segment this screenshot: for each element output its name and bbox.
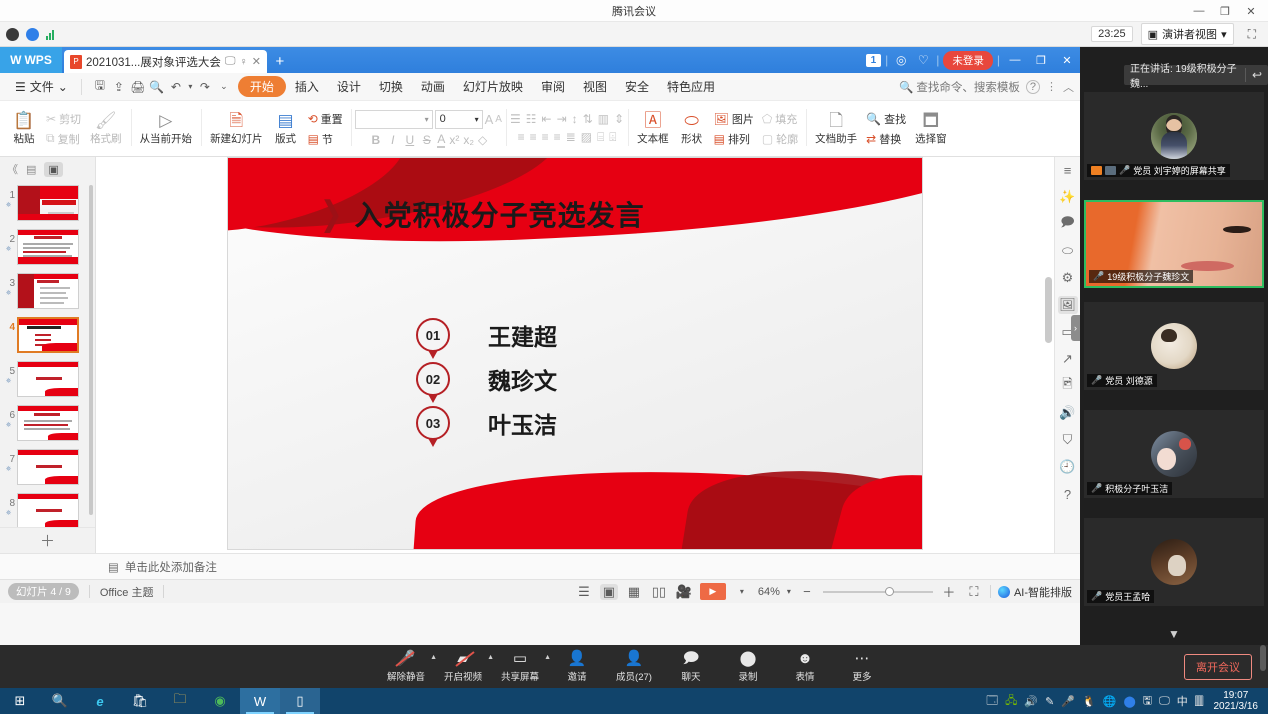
find-label: 查找 [884,111,906,127]
thumbnail-number: 6 [2,405,15,421]
zoom-in-button[interactable]: ＋ [940,582,958,601]
notes-pane[interactable]: ▤ 单击此处添加备注 [0,553,1080,579]
font-color-button[interactable]: A [437,132,445,148]
slash-overlay [394,650,416,668]
thumbnail-number: 4 [2,317,15,333]
nvidia-icon[interactable]: 🖧 [1005,692,1017,711]
speaking-label: 正在讲话: 19级积极分子魏... [1130,60,1239,90]
undo-icon[interactable]: ↶ [168,80,184,94]
undo-caret-icon[interactable]: ▾ [187,82,194,91]
volume-icon[interactable]: 🔊 [1024,695,1038,708]
hamburger-icon: ☰ [15,80,26,94]
invite-button[interactable]: 👤 邀请 [557,651,597,683]
ribbon-group-font: ▾ 0 ▾ A A B I U S A x² x₂ [351,103,506,154]
decrease-indent-icon[interactable]: ⇤ [542,112,552,126]
outline-icon: ▢ [762,132,773,146]
meeting-minimize-button[interactable]: — [1186,0,1212,22]
presenter-view-button[interactable]: ▣ 演讲者视图 ▾ [1141,23,1234,45]
tray-icons: 🗔 🖧 🔊 ✎ 🎤 🐧 🌐 ⬤ 🖫 🖵 中 🀫 [986,692,1203,711]
wps-logo-text: WPS [24,53,51,67]
text-align-vertical-icon[interactable]: ⇕ [614,112,624,126]
format-painter-label: 格式刷 [90,131,122,146]
bold-button[interactable]: B [369,133,382,147]
cloud-save-icon[interactable]: ⇪ [111,80,127,94]
slide-canvas[interactable]: ❯ 入党积极分子竞选发言 01 王建超 [227,157,923,550]
safebox-icon[interactable]: ⛉ [1058,431,1078,449]
thumbnail-number: 7 [2,449,15,465]
font-size-select[interactable]: 0 ▾ [435,110,483,129]
ribbon-tab-featured-apps[interactable]: 特色应用 [658,75,724,98]
name-item[interactable]: 01 王建超 [416,313,557,357]
name-text: 叶玉洁 [488,406,557,440]
start-video-label: 开启视频 [444,669,482,683]
thumbnail-item-6[interactable]: 6✵ [0,403,95,447]
statusbar-right: ☰ ▣ ▦ ▯▯ 🎥 ▶ ▾ 64% ▾ − ＋ ⛶ AI-智能排版 [575,582,1072,601]
columns-icon[interactable]: ▥ [598,112,609,126]
shape-icon[interactable]: ⬭ [1058,242,1078,260]
slide-title-block[interactable]: ❯ 入党积极分子竞选发言 [320,194,645,234]
panel-scrollbar[interactable] [1260,645,1266,671]
new-slide-icon: 🗎 [229,112,243,130]
search-icon[interactable]: 🔍 [40,688,80,714]
more-label: 更多 [852,669,871,683]
file-explorer-icon[interactable]: 🗀 [160,688,200,714]
wps-menu-row: ☰ 文件 ⌄ 🖫 ⇪ 🖨 🔍 ↶ ▾ ↷ ⌄ 开始 插入 设计 切换 动画 幻灯… [0,73,1080,101]
chevron-right-icon: ❯ [320,197,343,231]
paragraph-row-1: ☰ ☷ ⇤ ⇥ ↕ ⇅ ▥ ⇕ [510,112,624,126]
cut-button[interactable]: ✂ 剪切 [43,110,84,128]
find-button[interactable]: 🔍 查找 [863,110,909,128]
justify-icon[interactable]: ≡ [554,130,561,145]
image-library-icon[interactable]: 🖼 [1058,296,1078,314]
collapse-pane-icon[interactable]: 《 [7,161,18,177]
thumbnail-number: 2 [2,229,15,245]
wps-close-button[interactable]: ✕ [1056,54,1078,67]
zoom-out-button[interactable]: − [798,584,816,599]
pin-number: 03 [416,406,450,440]
record-icon: ⬤ [740,651,757,667]
effects-icon[interactable]: ✨ [1058,188,1078,206]
ribbon-group-slideshow: ▷ 从当前开始 [131,103,202,154]
name-item[interactable]: 03 叶玉洁 [416,401,557,445]
pin-marker: 01 [416,318,450,352]
redo-icon[interactable]: ↷ [197,80,213,94]
share-icon[interactable]: ↗ [1058,350,1078,368]
arrange-label: 排列 [728,131,750,147]
section-label: 节 [322,131,333,147]
fill-button[interactable]: ⬠ 填充 [759,110,801,128]
wps-tabbar: W WPS P 2021031...展对象评选大会 🖵 ♀ ✕ + 1 | ◎ … [0,47,1080,73]
ribbon-tab-slideshow[interactable]: 幻灯片放映 [454,75,532,98]
strikethrough-button[interactable]: S [420,133,433,147]
wps-statusbar: 幻灯片 4 / 9 Office 主题 ☰ ▣ ▦ ▯▯ 🎥 ▶ ▾ 64% ▾… [0,579,1080,603]
members-button[interactable]: 👤 成员(27) [614,651,654,683]
zoom-slider[interactable] [823,591,933,593]
text-direction-icon[interactable]: ⇅ [583,112,593,126]
share-screen-button[interactable]: ▭ 共享屏幕 ▲ [500,651,540,683]
distribute-icon[interactable]: ≣ [566,130,576,145]
chrome-icon[interactable]: ◉ [200,688,240,714]
start-slideshow-button[interactable]: ▶ [700,583,726,600]
chevron-up-icon[interactable]: ▲ [430,654,437,661]
chat-label: 聊天 [681,669,700,683]
select-pane-label: 选择窗 [915,131,947,146]
wps-main-area: 《 ▤ ▣ 1✵ [0,157,1080,553]
thumbnail-preview [17,449,79,485]
share-badge-icon [1091,166,1102,175]
paste-label: 粘贴 [14,131,35,146]
participant-panel: 正在讲话: 19级积极分子魏... ↩ 🎤 党员 刘宇婷的屏幕共享 🎤 19级积… [1080,47,1268,645]
participant-name-strip: 🎤 党员王孟哈 [1087,590,1154,603]
arrange-button[interactable]: ▤ 排列 [711,130,757,148]
shape-label: 形状 [681,131,702,146]
new-slide-button[interactable]: 🗎 新建幻灯片 [206,110,267,148]
fit-to-window-button[interactable]: ⛶ [965,584,983,600]
ribbon-tab-security[interactable]: 安全 [616,75,658,98]
start-button[interactable]: ⊞ [0,688,40,714]
zoom-caret-icon[interactable]: ▾ [787,587,791,596]
chevron-up-icon[interactable]: ▲ [487,654,494,661]
italic-button[interactable]: I [386,133,399,147]
thumbnail-list[interactable]: 1✵ 2✵ [0,181,95,527]
thumbnail-preview [17,185,79,221]
outline-button[interactable]: ▢ 轮廓 [759,130,801,148]
paste-icon: 📋 [13,112,34,130]
avatar [1151,323,1197,369]
comment-icon[interactable]: 🗩 [1058,215,1078,233]
layout-button[interactable]: ▤ 版式 [269,110,303,148]
zoom-level-label[interactable]: 64% [758,586,780,598]
picture-button[interactable]: 🖼 图片 [711,110,757,128]
participant-name-strip: 🎤 党员 刘德源 [1087,374,1157,387]
mic-off-icon: 🎤 [397,651,416,667]
layout-icon: ▣ [1148,28,1158,41]
collapse-ribbon-icon[interactable]: ︿ [1063,79,1074,95]
thumbnail-number: 1 [2,185,15,201]
microphone-icon[interactable]: 🎤 [1061,695,1075,708]
slide-name-list[interactable]: 01 王建超 02 魏珍文 [416,313,557,445]
search-icon: 🔍 [899,80,913,94]
slide-canvas-area[interactable]: ❯ 入党积极分子竞选发言 01 王建超 [96,157,1054,553]
slash-overlay [454,650,476,668]
meeting-clock: 23:25 [1091,26,1133,42]
ime-keyboard-icon[interactable]: 🀫 [1195,695,1204,708]
ribbon-group-drawing: 🄰 文本框 ⬭ 形状 🖼 图片 ▤ 排列 [628,103,806,154]
bulb-icon[interactable]: ♀ [239,56,247,68]
video-tile-3[interactable]: 🎤 积极分子叶玉洁 [1084,410,1264,498]
reset-icon: ⟲ [308,112,318,126]
lock-icon[interactable] [26,28,39,41]
video-tile-4[interactable]: 🎤 党员王孟哈 [1084,518,1264,606]
start-from-current-button[interactable]: ▷ 从当前开始 [136,110,197,148]
reading-view-button[interactable]: ▯▯ [650,584,668,600]
ribbon-tab-animation[interactable]: 动画 [412,75,454,98]
thumbnail-item-5[interactable]: 5✵ [0,359,95,403]
leave-meeting-button[interactable]: 离开会议 [1184,654,1252,680]
participant-name-strip: 🎤 积极分子叶玉洁 [1087,482,1172,495]
clear-format-button[interactable]: ◇ [478,133,487,147]
indent-list-icon[interactable]: ⌸ [597,130,604,145]
slide-title-text: 入党积极分子竞选发言 [355,194,645,234]
thumbnail-item-1[interactable]: 1✵ [0,183,95,227]
settings-icon[interactable]: ⚙ [1058,269,1078,287]
avatar [1151,539,1197,585]
chevron-down-icon: ▾ [475,115,479,124]
align-right-icon[interactable]: ≡ [542,130,549,145]
pin-number: 01 [416,318,450,352]
slideshow-caret-icon[interactable]: ▾ [733,587,751,596]
customize-qat-icon[interactable]: ⌄ [216,81,232,92]
print-icon[interactable]: 🖨 [130,80,146,94]
participant-name: 19级积极分子魏珍文 [1107,270,1189,283]
show-hidden-icons[interactable]: 🗔 [986,692,998,711]
doc-assistant-button[interactable]: 🗋 文档助手 [811,110,861,148]
superscript-button[interactable]: x² [449,133,459,147]
thumbnail-item-3[interactable]: 3✵ [0,271,95,315]
unmute-label: 解除静音 [387,669,425,683]
wps-icon[interactable]: W [240,688,280,714]
thumbnail-preview [17,273,79,309]
slides-view-icon[interactable]: ▣ [44,162,62,177]
qq-icon[interactable]: 🐧 [1082,695,1096,708]
underline-button[interactable]: U [403,133,416,147]
theme-label[interactable]: Office 主题 [100,584,154,600]
paste-button[interactable]: 📋 粘贴 [7,110,41,148]
ribbon-tab-view[interactable]: 视图 [574,75,616,98]
format-painter-icon: 🖌 [95,112,117,130]
help-icon[interactable]: ? [1058,485,1078,503]
name-item[interactable]: 02 魏珍文 [416,357,557,401]
avatar [1151,431,1197,477]
outline-label: 轮廓 [776,131,798,147]
record-label: 录制 [738,669,757,683]
wps-logo-mark: W [10,53,21,67]
smartart-icon[interactable]: ▨ [581,130,592,145]
login-status-button[interactable]: 未登录 [943,51,993,70]
share-screen-icon: ▭ [513,651,527,667]
cut-label: 剪切 [59,111,81,127]
thumbnail-item-4[interactable]: 4 [0,315,95,359]
animation-star-icon: ✵ [6,421,12,429]
section-button[interactable]: ▤ 节 [305,130,346,148]
increase-indent-icon[interactable]: ⇥ [557,112,567,126]
slide-sorter-button[interactable]: ▦ [625,584,643,600]
ribbon-tab-start[interactable]: 开始 [238,76,286,97]
list-level-icon[interactable]: ⌹ [609,130,616,145]
meeting-titlebar: 腾讯会议 — ❐ ✕ [0,0,1268,22]
record-button[interactable]: ⬤ 录制 [728,651,768,683]
fullscreen-button[interactable]: ⛶ [1242,27,1262,42]
outline-view-icon[interactable]: ▤ [26,163,36,176]
wps-minimize-button[interactable]: — [1004,54,1026,66]
chat-button[interactable]: 🗩 聊天 [671,651,711,683]
scroll-down-icon[interactable]: ▼ [1168,627,1180,641]
search-command-box[interactable]: 🔍 查找命令、搜索模板 [899,79,1020,95]
collaborate-icon[interactable]: ◎ [892,53,910,67]
new-tab-button[interactable]: + [267,50,293,73]
shrink-font-icon[interactable]: A [495,114,502,125]
outline-view-button[interactable]: ☰ [575,584,593,600]
normal-view-button[interactable]: ▣ [600,584,618,600]
textbox-button[interactable]: 🄰 文本框 [633,110,673,148]
participant-name: 党员王孟哈 [1105,590,1150,603]
thumbnail-preview [17,229,79,265]
zoom-slider-handle[interactable] [885,587,894,596]
skin-icon[interactable]: ♡ [914,53,932,67]
font-name-select[interactable]: ▾ [355,110,433,129]
store-icon[interactable]: 🛍 [120,688,160,714]
members-label: 成员(27) [616,669,652,683]
sound-icon[interactable]: 🔊 [1058,404,1078,422]
line-spacing-icon[interactable]: ↕ [572,112,578,126]
help-icon[interactable]: ? [1026,80,1040,94]
search-placeholder: 查找命令、搜索模板 [916,79,1020,95]
add-slide-button[interactable]: ＋ [0,527,95,553]
clipboard-small-buttons: ✂ 剪切 ⧉ 复制 [43,110,84,148]
ribbon-tab-transition[interactable]: 切换 [370,75,412,98]
mic-off-icon: 🎤 [1091,375,1102,386]
ribbon-group-clipboard: 📋 粘贴 ✂ 剪切 ⧉ 复制 🖌 格式刷 [2,103,131,154]
replace-button[interactable]: ⇄ 替换 [863,130,909,148]
video-tile-1[interactable]: 🎤 19级积极分子魏珍文 [1084,200,1264,288]
emoji-label: 表情 [795,669,814,683]
copy-icon: ⧉ [46,131,55,146]
picture-icon[interactable]: 🖻 [1058,377,1078,395]
video-tile-2[interactable]: 🎤 党员 刘德源 [1084,302,1264,390]
ribbon-group-editing: 🗋 文档助手 🔍 查找 ⇄ 替换 🗖 选择窗 [806,103,955,154]
select-pane-button[interactable]: 🗖 选择窗 [911,110,951,148]
file-menu-label: 文件 [30,78,54,95]
meeting-window-title: 腾讯会议 [612,3,656,19]
animation-star-icon: ✵ [6,201,12,209]
copy-label: 复制 [58,131,80,147]
ai-layout-button[interactable]: AI-智能排版 [998,584,1072,600]
quick-access-toolbar: 🖫 ⇪ 🖨 🔍 ↶ ▾ ↷ ⌄ [86,76,238,97]
pin-number: 02 [416,362,450,396]
new-slide-label: 新建幻灯片 [210,131,263,146]
numbering-icon[interactable]: ☷ [526,112,537,126]
start-from-current-label: 从当前开始 [140,131,193,146]
start-video-button[interactable]: ▰ 开启视频 ▲ [443,651,483,683]
meeting-maximize-button[interactable]: ❐ [1212,0,1238,22]
file-menu-button[interactable]: ☰ 文件 ⌄ [6,75,77,98]
edge-icon[interactable]: e [80,688,120,714]
align-left-icon[interactable]: ≡ [518,130,525,145]
canvas-scrollbar[interactable] [1045,277,1052,343]
invite-label: 邀请 [567,669,586,683]
animation-star-icon: ✵ [6,245,12,253]
thumbnail-preview [17,493,79,527]
font-size-value: 0 [440,113,446,125]
pin-marker: 03 [416,406,450,440]
ribbon-tab-design[interactable]: 设计 [328,75,370,98]
meeting-toolbar-buttons: 🎤 解除静音 ▲ ▰ 开启视频 ▲ ▭ 共享屏幕 ▲ 👤 邀请 [386,651,882,683]
wps-restore-button[interactable]: ❐ [1030,54,1052,67]
shape-button[interactable]: ⬭ 形状 [675,110,709,148]
reset-button[interactable]: ⟲ 重置 [305,110,346,128]
thumbnail-item-8[interactable]: 8✵ [0,491,95,527]
expand-panel-handle[interactable]: › [1071,315,1080,341]
thumbnail-preview [17,317,79,353]
emoji-button[interactable]: ☻ 表情 [785,651,825,683]
pen-icon[interactable]: ✎ [1045,695,1054,708]
paragraph-row-2: ≡ ≡ ≡ ≡ ≣ ▨ ⌸ ⌹ [518,130,617,145]
chevron-up-icon[interactable]: ▲ [544,654,551,661]
battery-icon[interactable]: 🖫 [1143,692,1152,711]
divider-icon: ≡ [1058,161,1078,179]
section-icon: ▤ [308,132,319,146]
editing-small-buttons: 🔍 查找 ⇄ 替换 [863,110,909,148]
screen-icon[interactable]: 🖵 [225,55,236,68]
avatar [1151,113,1197,159]
chevron-down-icon: ▾ [425,115,429,124]
wps-ribbon: 📋 粘贴 ✂ 剪切 ⧉ 复制 🖌 格式刷 [0,101,1080,157]
meeting-icon[interactable]: ▯ [280,688,320,714]
network-signal-icon[interactable] [46,29,54,40]
close-tab-icon[interactable]: ✕ [252,55,261,68]
subscript-button[interactable]: x₂ [463,133,474,147]
network-icon[interactable]: 🖵 [1159,695,1170,708]
save-icon[interactable]: 🖫 [92,76,108,97]
fill-label: 填充 [775,111,797,127]
slide-counter: 幻灯片 4 / 9 [8,583,79,600]
bluetooth-icon[interactable]: ⬤ [1123,695,1135,708]
shield-icon[interactable] [6,28,19,41]
thumbnail-item-2[interactable]: 2✵ [0,227,95,271]
browser-icon[interactable]: 🌐 [1103,695,1117,708]
notes-placeholder: 单击此处添加备注 [125,559,217,575]
taskbar-clock[interactable]: 19:07 2021/3/16 [1210,690,1263,712]
screen-badge-icon [1105,166,1116,175]
ribbon-tab-review[interactable]: 审阅 [532,75,574,98]
meeting-window-controls: — ❐ ✕ [1186,0,1264,22]
chevron-down-icon: ⌄ [58,80,68,94]
emoji-icon: ☻ [797,651,813,667]
replace-icon: ⇄ [866,132,876,146]
record-screen-button[interactable]: 🎥 [675,584,693,600]
format-painter-button[interactable]: 🖌 格式刷 [86,110,126,148]
textbox-icon: 🄰 [644,112,661,130]
copy-button[interactable]: ⧉ 复制 [43,130,84,148]
invite-icon: 👤 [568,651,587,667]
more-button[interactable]: ⋯ 更多 [842,651,882,683]
play-circle-icon: ▷ [159,112,172,130]
bullets-icon[interactable]: ☰ [510,112,521,126]
thumbnail-scrollbar[interactable] [89,185,93,515]
divider [81,79,82,95]
more-options-icon[interactable]: ⋮ [1046,80,1057,93]
font-row-2: B I U S A x² x₂ ◇ [369,132,487,148]
members-icon: 👤 [625,651,644,667]
ribbon-tab-insert[interactable]: 插入 [286,75,328,98]
animation-star-icon: ✵ [6,289,12,297]
document-tab[interactable]: P 2021031...展对象评选大会 🖵 ♀ ✕ [64,50,267,73]
picture-icon: 🖼 [714,112,729,126]
grow-font-icon[interactable]: A [485,112,494,127]
video-tile-0[interactable]: 🎤 党员 刘宇婷的屏幕共享 [1084,92,1264,180]
tab-count-badge[interactable]: 1 [866,54,882,67]
history-icon[interactable]: 🕘 [1058,458,1078,476]
print-preview-icon[interactable]: 🔍 [149,80,165,94]
unmute-button[interactable]: 🎤 解除静音 ▲ [386,651,426,683]
thumbnail-item-7[interactable]: 7✵ [0,447,95,491]
ime-icon[interactable]: 中 [1177,693,1188,709]
back-icon[interactable]: ↩ [1245,68,1262,82]
meeting-close-button[interactable]: ✕ [1238,0,1264,22]
pin-tip-icon [428,438,438,447]
align-center-icon[interactable]: ≡ [530,130,537,145]
taskbar-tray: 🗔 🖧 🔊 ✎ 🎤 🐧 🌐 ⬤ 🖫 🖵 中 🀫 19:07 2021/3/16 [986,690,1268,712]
